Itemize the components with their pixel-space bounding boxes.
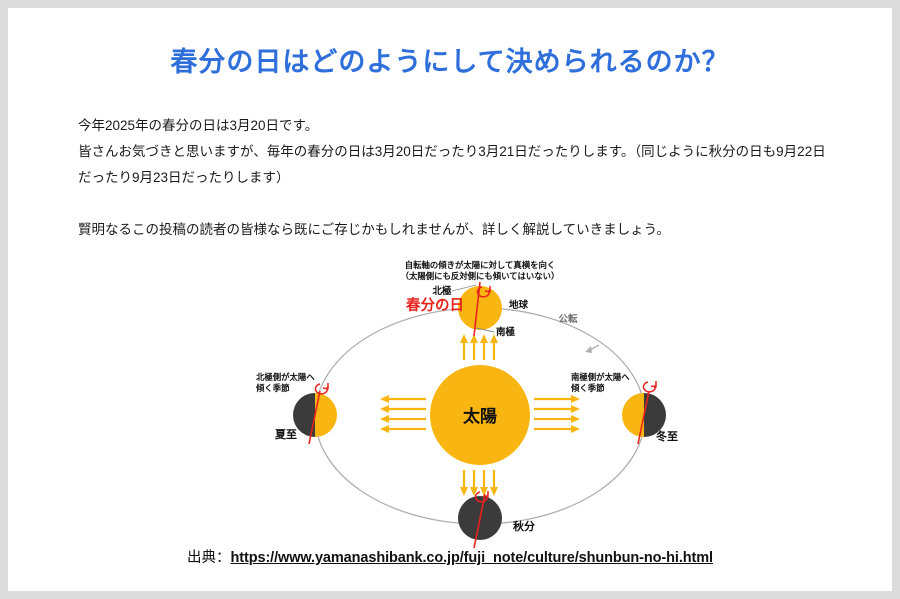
autumn-equinox-label: 秋分	[513, 519, 535, 533]
earth-label: 地球	[509, 299, 529, 311]
sun-rays-up-heads	[460, 334, 498, 343]
sun-rays-right-heads	[571, 395, 580, 433]
right-season-note-line-2: 傾く季節	[570, 383, 605, 393]
orbit-label: 公転	[558, 313, 578, 325]
north-pole-label: 北極	[432, 285, 452, 297]
body-line-2: 皆さんお気づきと思いますが、毎年の春分の日は3月20日だったり3月21日だったり…	[78, 139, 858, 165]
earth-top-sphere	[458, 286, 502, 330]
body-line-1: 今年2025年の春分の日は3月20日です。	[78, 113, 858, 139]
rotation-curl-icon-right	[643, 381, 656, 392]
winter-solstice-label: 冬至	[656, 429, 678, 443]
sun-rays-down	[464, 470, 494, 490]
body-line-4: 賢明なるこの投稿の読者の皆様なら既にご存じかもしれませんが、詳しく解説していきま…	[78, 217, 858, 243]
left-season-note-line-2: 傾く季節	[255, 383, 290, 393]
body-line-3: だったり9月23日だったりします）	[78, 165, 858, 191]
axis-note-line-2: （太陽側にも反対側にも傾いてはいない）	[401, 271, 560, 281]
left-season-note-line-1: 北極側が太陽へ	[256, 372, 315, 382]
south-pole-label: 南極	[496, 326, 516, 338]
sun-rays-left-heads	[380, 395, 389, 433]
shunbun-label: 春分の日	[406, 296, 464, 314]
sun-rays-up	[464, 340, 494, 360]
orbit-direction-arrow	[585, 345, 599, 353]
source-url-link[interactable]: https://www.yamanashibank.co.jp/fuji_not…	[231, 550, 713, 566]
axis-note-line-1: 自転軸の傾きが太陽に対して真横を向く	[405, 260, 556, 270]
document-page: 春分の日はどのようにして決められるのか？ 今年2025年の春分の日は3月20日で…	[8, 8, 892, 591]
sun-rays-left	[386, 399, 426, 429]
sun-rays-right	[534, 399, 574, 429]
summer-solstice-label: 夏至	[275, 428, 297, 441]
seasons-diagram: 太陽	[8, 252, 892, 552]
source-line: 出典：https://www.yamanashibank.co.jp/fuji_…	[8, 546, 892, 567]
right-season-note-line-1: 南極側が太陽へ	[571, 372, 630, 382]
page-title: 春分の日はどのようにして決められるのか？	[8, 40, 892, 79]
article-body: 今年2025年の春分の日は3月20日です。 皆さんお気づきと思いますが、毎年の春…	[78, 113, 858, 243]
sun-label: 太陽	[463, 406, 497, 426]
source-label: 出典：	[187, 550, 231, 566]
paragraph-gap	[78, 191, 858, 217]
